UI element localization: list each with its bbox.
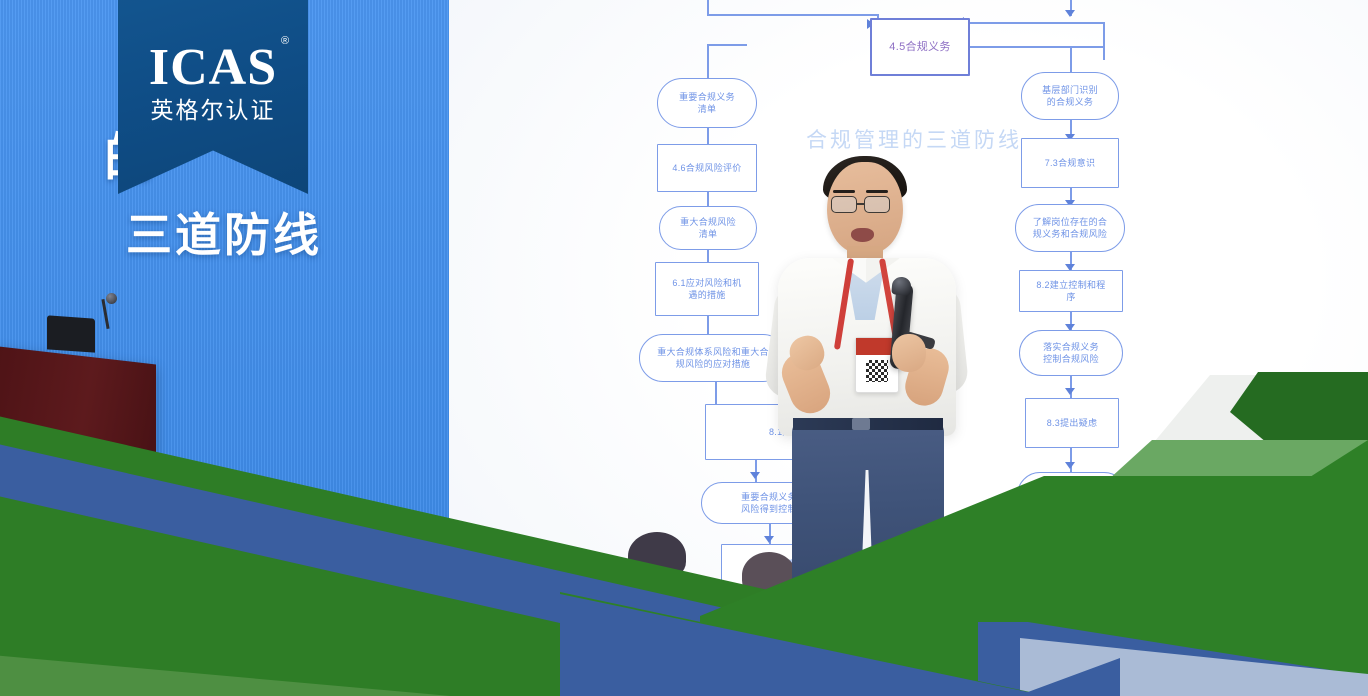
flow-edge (1070, 446, 1072, 474)
flow-node-implement-obligations[interactable]: 落实合规义务控制合规风险 (1019, 330, 1123, 376)
flow-node-suspected-noncompliance[interactable]: 疑似不合规 (1017, 472, 1127, 518)
flow-node-4-5[interactable]: 4.5合规义务 (870, 18, 970, 76)
registered-trademark-icon: ® (281, 36, 289, 47)
flow-node-4-6[interactable]: 4.6合规风险评价 (657, 144, 757, 192)
speaker-mouth (851, 228, 874, 242)
podium-microphone-head (106, 293, 117, 304)
flow-arrow (1065, 534, 1075, 541)
icas-logo-text: ICAS (118, 40, 308, 96)
audience-head (996, 546, 1052, 594)
flow-node-8-2[interactable]: 8.2建立控制和程序 (1019, 270, 1123, 312)
flow-edge (715, 382, 717, 406)
speaker-glasses-right-lens (864, 196, 890, 213)
flow-arrow (1065, 388, 1075, 395)
flow-edge (1070, 518, 1072, 548)
flow-arrow (764, 536, 774, 543)
flow-node-7-3[interactable]: 7.3合规意识 (1021, 138, 1119, 188)
flow-edge (964, 46, 1104, 48)
podium-top-panel (47, 315, 95, 352)
speaker-badge-qr-code (866, 360, 888, 382)
flow-edge (1070, 374, 1072, 400)
speaker-glasses-bridge (857, 203, 865, 205)
flow-edge (707, 44, 747, 46)
flow-node-important-obligation-list[interactable]: 重要合规义务清单 (657, 78, 757, 128)
icas-logo-subtitle: 英格尔认证 (118, 96, 308, 124)
flow-node-understand-obligations[interactable]: 了解岗位存在的合规义务和合规风险 (1015, 204, 1125, 252)
flow-arrow (1065, 10, 1075, 17)
flow-node-6-1[interactable]: 6.1应对风险和机遇的措施 (655, 262, 759, 316)
speaker-right-hand (892, 334, 926, 372)
microphone-head (891, 276, 911, 296)
speaker-glasses-left-lens (831, 196, 857, 213)
flow-edge (707, 44, 709, 82)
speaker-eyebrow-right (866, 190, 888, 193)
banner-title-line-2: 三道防线 (126, 206, 426, 264)
podium (0, 346, 156, 484)
flow-node-department-obligations[interactable]: 基层部门识别的合规义务 (1021, 72, 1119, 120)
speaker-eyebrow-left (833, 190, 855, 193)
conference-photo: 4.5合规义务 重要合规义务清单 4.6合规风险评价 重大合规风险清单 6.1应… (0, 0, 1368, 696)
flow-arrow (1065, 462, 1075, 469)
flow-edge (1103, 22, 1105, 60)
audience-shoulders (1010, 594, 1084, 644)
flow-edge (707, 0, 709, 14)
speaker-belt-buckle (852, 418, 870, 430)
flow-node-major-risk-list[interactable]: 重大合规风险清单 (659, 206, 757, 250)
slide-title: 合规管理的三道防线 (806, 128, 1022, 154)
flow-edge (707, 14, 877, 16)
flow-edge (964, 22, 1104, 24)
flow-arrow (750, 472, 760, 479)
flow-node-8-3[interactable]: 8.3提出疑虑 (1025, 398, 1119, 448)
audience-head (742, 552, 796, 598)
audience-head (628, 532, 686, 580)
